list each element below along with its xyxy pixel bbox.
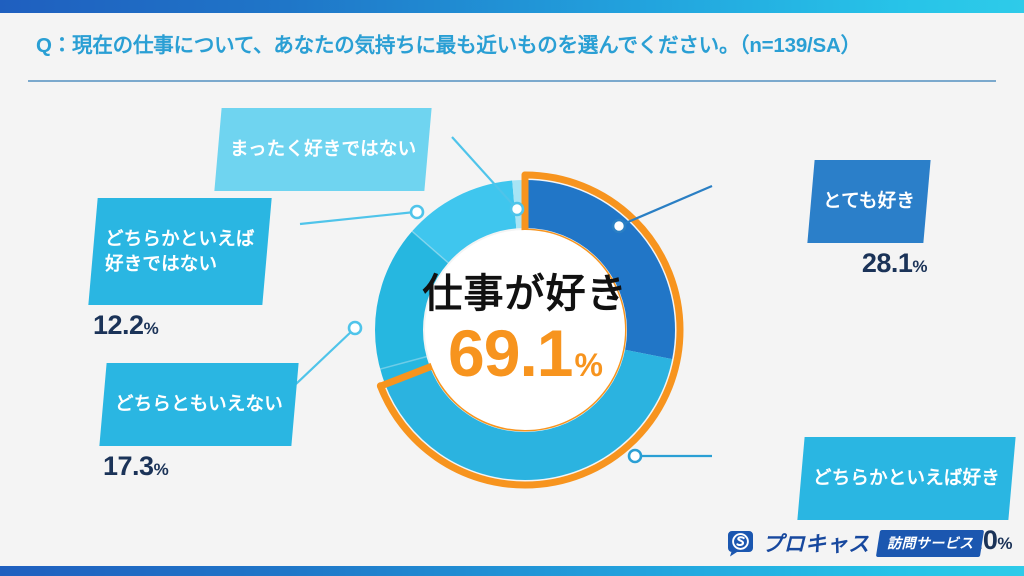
- callout-label-text: まったく好きではない: [230, 137, 416, 162]
- bottom-gradient-bar: [0, 566, 1024, 576]
- logo-badge: 訪問サービス: [875, 530, 984, 557]
- callout-value-unit: %: [154, 460, 169, 479]
- callout-dochiraka-not: どちらかといえば 好きではない 12.2%: [93, 198, 315, 339]
- top-gradient-bar: [0, 0, 1024, 13]
- callout-value-number: 17.3: [103, 451, 154, 481]
- callout-label-text: どちらかといえば好き: [813, 466, 1000, 491]
- callout-label-text: どちらともいえない: [115, 392, 283, 417]
- logo-name: プロキャス: [762, 528, 870, 558]
- callout-value-totemo: 28.1%: [712, 250, 927, 277]
- callout-totemo: とても好き 28.1%: [712, 160, 927, 277]
- callout-value-dochiraka-not: 12.2%: [93, 312, 315, 339]
- callout-value-number: 28.1: [862, 248, 913, 278]
- slide-root: Q：現在の仕事について、あなたの気持ちに最も近いものを選んでください。（n=13…: [0, 0, 1024, 576]
- callout-label-totemo: とても好き: [807, 160, 930, 243]
- callout-label-text: とても好き: [823, 189, 915, 214]
- callout-label-text: どちらかといえば 好きではない: [105, 227, 255, 276]
- callout-value-number: 12.2: [93, 310, 144, 340]
- brand-logo: プロキャス 訪問サービス: [727, 528, 982, 558]
- logo-badge-text: 訪問サービス: [887, 533, 973, 553]
- callout-label-dochiraka-not: どちらかといえば 好きではない: [88, 198, 271, 305]
- callout-value-dochiratomo: 17.3%: [103, 453, 328, 480]
- s-circle-icon: [727, 530, 754, 557]
- callout-dochiratomo: どちらともいえない 17.3%: [103, 363, 328, 480]
- callout-value-unit: %: [912, 257, 927, 276]
- donut-hole: [425, 230, 625, 430]
- callout-label-dochiratomo: どちらともいえない: [99, 363, 298, 446]
- page-title: Q：現在の仕事について、あなたの気持ちに最も近いものを選んでください。（n=13…: [36, 28, 861, 58]
- callout-value-unit: %: [144, 319, 159, 338]
- header-divider: [28, 80, 996, 82]
- callout-label-dochiraka-suki: どちらかといえば好き: [797, 437, 1015, 520]
- callout-value-unit: %: [997, 534, 1012, 553]
- callout-label-mattaku: まったく好きではない: [214, 108, 432, 191]
